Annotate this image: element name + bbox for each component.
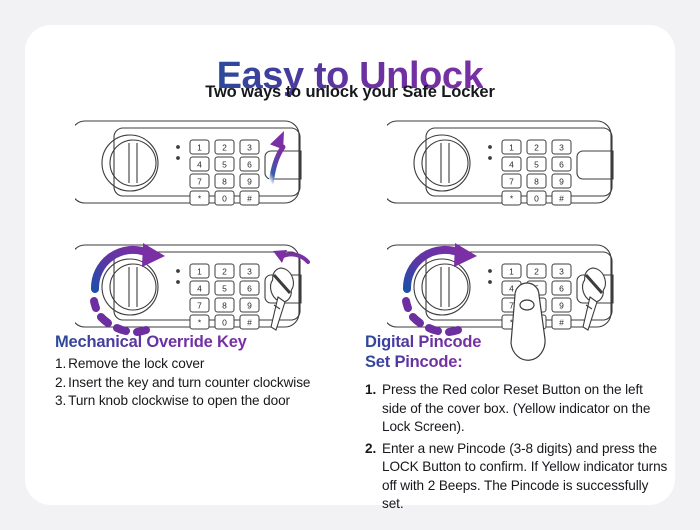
led-dot-2 [176, 156, 180, 160]
cover-lift-arrow [271, 147, 283, 183]
keypad-key-label-4: 4 [197, 159, 202, 169]
keypad-key-label-5: 5 [222, 283, 227, 293]
illustration-top-right: 123456789*0# [387, 113, 622, 208]
section-digital-heading-line1: Digital Pincode [365, 332, 481, 352]
key-counterclockwise-arrow [281, 254, 308, 262]
illustration-top-left: 123456789*0# [75, 113, 310, 208]
step-text: Enter a new Pincode (3-8 digits) and pre… [382, 441, 667, 511]
indicator-leds [176, 145, 180, 160]
section-digital-heading: Digital Pincode Set Pincode: [365, 332, 670, 372]
keypad-key-label-8: 8 [534, 176, 539, 186]
step-text: Press the Red color Reset Button on the … [382, 382, 650, 434]
step-text: Remove the lock cover [68, 356, 204, 371]
keypad-key-label-#: # [247, 193, 252, 203]
keypad-key-label-0: 0 [222, 193, 227, 203]
section-mechanical-heading: Mechanical Override Key [55, 332, 355, 352]
keypad-bottom-left: 123456789*0# [190, 264, 259, 329]
knob-clockwise-arrowhead [454, 243, 477, 267]
knob-inner-ring [422, 140, 468, 186]
keypad-key-label-5: 5 [222, 159, 227, 169]
keypad-key-label-6: 6 [247, 159, 252, 169]
knob-clockwise-arrowhead [142, 243, 165, 267]
keypad-key-label-5: 5 [534, 159, 539, 169]
led-dot-1 [488, 145, 492, 149]
step-number: 1. [365, 381, 376, 399]
keypad-key-label-2: 2 [534, 266, 539, 276]
keypad-key-label-1: 1 [197, 142, 202, 152]
step-text: Insert the key and turn counter clockwis… [68, 375, 310, 390]
knob-inner-ring [422, 264, 468, 310]
step-text: Turn knob clockwise to open the door [68, 393, 290, 408]
keypad-key-label-#: # [559, 317, 564, 327]
knob-clockwise-arrow [407, 250, 460, 289]
keypad-key-label-3: 3 [247, 266, 252, 276]
keypad-key-label-7: 7 [197, 176, 202, 186]
keypad-key-label-3: 3 [559, 266, 564, 276]
keypad-key-label-0: 0 [222, 317, 227, 327]
led-dot-2 [488, 156, 492, 160]
keypad-key-label-6: 6 [559, 159, 564, 169]
led-dot-2 [176, 280, 180, 284]
led-dot-2 [488, 280, 492, 284]
step-number: 1. [55, 356, 66, 371]
keypad-key-label-2: 2 [222, 142, 227, 152]
keypad-key-label-7: 7 [509, 176, 514, 186]
step-number: 2. [55, 375, 66, 390]
keypad-key-label-9: 9 [247, 300, 252, 310]
knob-inner-ring [110, 264, 156, 310]
keypad-key-label-#: # [247, 317, 252, 327]
keypad-key-label-4: 4 [509, 283, 514, 293]
list-item: 1.Remove the lock cover [55, 355, 355, 373]
section-digital-heading-line2: Set Pincode: [365, 352, 463, 372]
led-dot-1 [176, 145, 180, 149]
list-item: 1.Press the Red color Reset Button on th… [365, 381, 670, 436]
section-digital: Digital Pincode Set Pincode: 1.Press the… [365, 332, 670, 517]
section-mechanical: Mechanical Override Key 1.Remove the loc… [55, 332, 355, 411]
indicator-leds [488, 145, 492, 160]
key-shaft [583, 297, 597, 330]
page-subtitle: Two ways to unlock your Safe Locker [25, 83, 675, 102]
keypad-key-label-4: 4 [509, 159, 514, 169]
keypad-key-label-9: 9 [559, 300, 564, 310]
list-item: 2.Enter a new Pincode (3-8 digits) and p… [365, 440, 670, 514]
step-number: 3. [55, 393, 66, 408]
indicator-leds [176, 269, 180, 284]
content-card: Easy to Unlock Two ways to unlock your S… [25, 25, 675, 505]
keypad-key-label-9: 9 [247, 176, 252, 186]
list-item: 3.Turn knob clockwise to open the door [55, 392, 355, 410]
keypad-key-label-4: 4 [197, 283, 202, 293]
lock-cover-flap [577, 151, 613, 179]
fingernail [520, 300, 534, 310]
keypad-key-label-1: 1 [509, 142, 514, 152]
keypad-key-label-2: 2 [222, 266, 227, 276]
keypad-key-label-#: # [559, 193, 564, 203]
keypad-key-label-9: 9 [559, 176, 564, 186]
cover-lift-arrowhead [270, 128, 290, 150]
knob-inner-ring [110, 140, 156, 186]
keypad-key-label-3: 3 [247, 142, 252, 152]
section-digital-steps: 1.Press the Red color Reset Button on th… [365, 381, 670, 513]
keypad-key-label-1: 1 [197, 266, 202, 276]
keypad-key-label-8: 8 [222, 176, 227, 186]
keypad-key-label-2: 2 [534, 142, 539, 152]
section-mechanical-heading-line1: Mechanical Override Key [55, 332, 247, 352]
led-dot-1 [176, 269, 180, 273]
keypad-key-label-6: 6 [247, 283, 252, 293]
keypad-key-label-1: 1 [509, 266, 514, 276]
keypad-key-label-7: 7 [197, 300, 202, 310]
led-dot-1 [488, 269, 492, 273]
step-number: 2. [365, 440, 376, 458]
key-shaft [271, 297, 285, 330]
list-item: 2.Insert the key and turn counter clockw… [55, 374, 355, 392]
keypad-key-label-3: 3 [559, 142, 564, 152]
keypad-top-right: 123456789*0# [502, 140, 571, 205]
keypad-top-left: 123456789*0# [190, 140, 259, 205]
section-mechanical-steps: 1.Remove the lock cover 2.Insert the key… [55, 355, 355, 410]
knob-clockwise-arrow [95, 250, 148, 289]
keypad-key-label-8: 8 [222, 300, 227, 310]
keypad-key-label-0: 0 [534, 193, 539, 203]
keypad-key-label-6: 6 [559, 283, 564, 293]
indicator-leds [488, 269, 492, 284]
